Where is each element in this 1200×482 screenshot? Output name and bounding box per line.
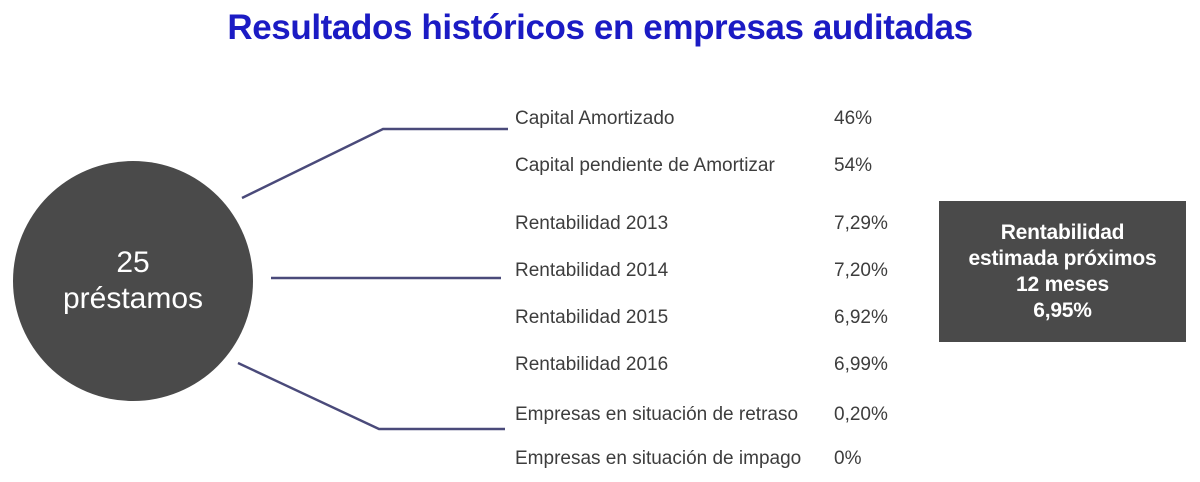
table-row: Capital Amortizado 46% <box>515 95 910 142</box>
highlight-line-2: estimada próximos <box>969 246 1157 272</box>
highlight-line-3: 12 meses <box>1016 272 1109 298</box>
table-row: Empresas en situación de retraso 0,20% <box>515 393 910 437</box>
row-label: Empresas en situación de retraso <box>515 393 798 437</box>
hub-circle: 25 préstamos <box>13 161 253 401</box>
highlight-line-1: Rentabilidad <box>1001 220 1125 246</box>
table-row: Rentabilidad 2015 6,92% <box>515 294 910 341</box>
table-row: Rentabilidad 2013 7,29% <box>515 200 910 247</box>
row-label: Rentabilidad 2013 <box>515 200 668 247</box>
row-label: Empresas en situación de impago <box>515 437 801 481</box>
highlight-value: 6,95% <box>1033 298 1092 324</box>
row-label: Capital Amortizado <box>515 95 674 142</box>
table-row: Rentabilidad 2016 6,99% <box>515 341 910 388</box>
table-row: Capital pendiente de Amortizar 54% <box>515 142 910 189</box>
hub-unit: préstamos <box>63 281 203 317</box>
row-value: 7,20% <box>834 247 888 294</box>
group-capital: Capital Amortizado 46% Capital pendiente… <box>515 95 910 189</box>
row-value: 0% <box>834 437 861 481</box>
row-value: 54% <box>834 142 872 189</box>
highlight-box: Rentabilidad estimada próximos 12 meses … <box>939 201 1186 342</box>
table-row: Rentabilidad 2014 7,20% <box>515 247 910 294</box>
row-label: Rentabilidad 2014 <box>515 247 668 294</box>
connector-top <box>242 129 508 198</box>
connector-bottom <box>238 363 505 429</box>
hub-count: 25 <box>116 245 149 281</box>
page-title: Resultados históricos en empresas audita… <box>0 6 1200 50</box>
row-value: 0,20% <box>834 393 888 437</box>
table-row: Empresas en situación de impago 0% <box>515 437 910 481</box>
row-label: Rentabilidad 2016 <box>515 341 668 388</box>
row-value: 7,29% <box>834 200 888 247</box>
row-value: 6,99% <box>834 341 888 388</box>
row-label: Capital pendiente de Amortizar <box>515 142 775 189</box>
row-label: Rentabilidad 2015 <box>515 294 668 341</box>
row-value: 6,92% <box>834 294 888 341</box>
row-value: 46% <box>834 95 872 142</box>
group-rentabilidad: Rentabilidad 2013 7,29% Rentabilidad 201… <box>515 200 910 388</box>
